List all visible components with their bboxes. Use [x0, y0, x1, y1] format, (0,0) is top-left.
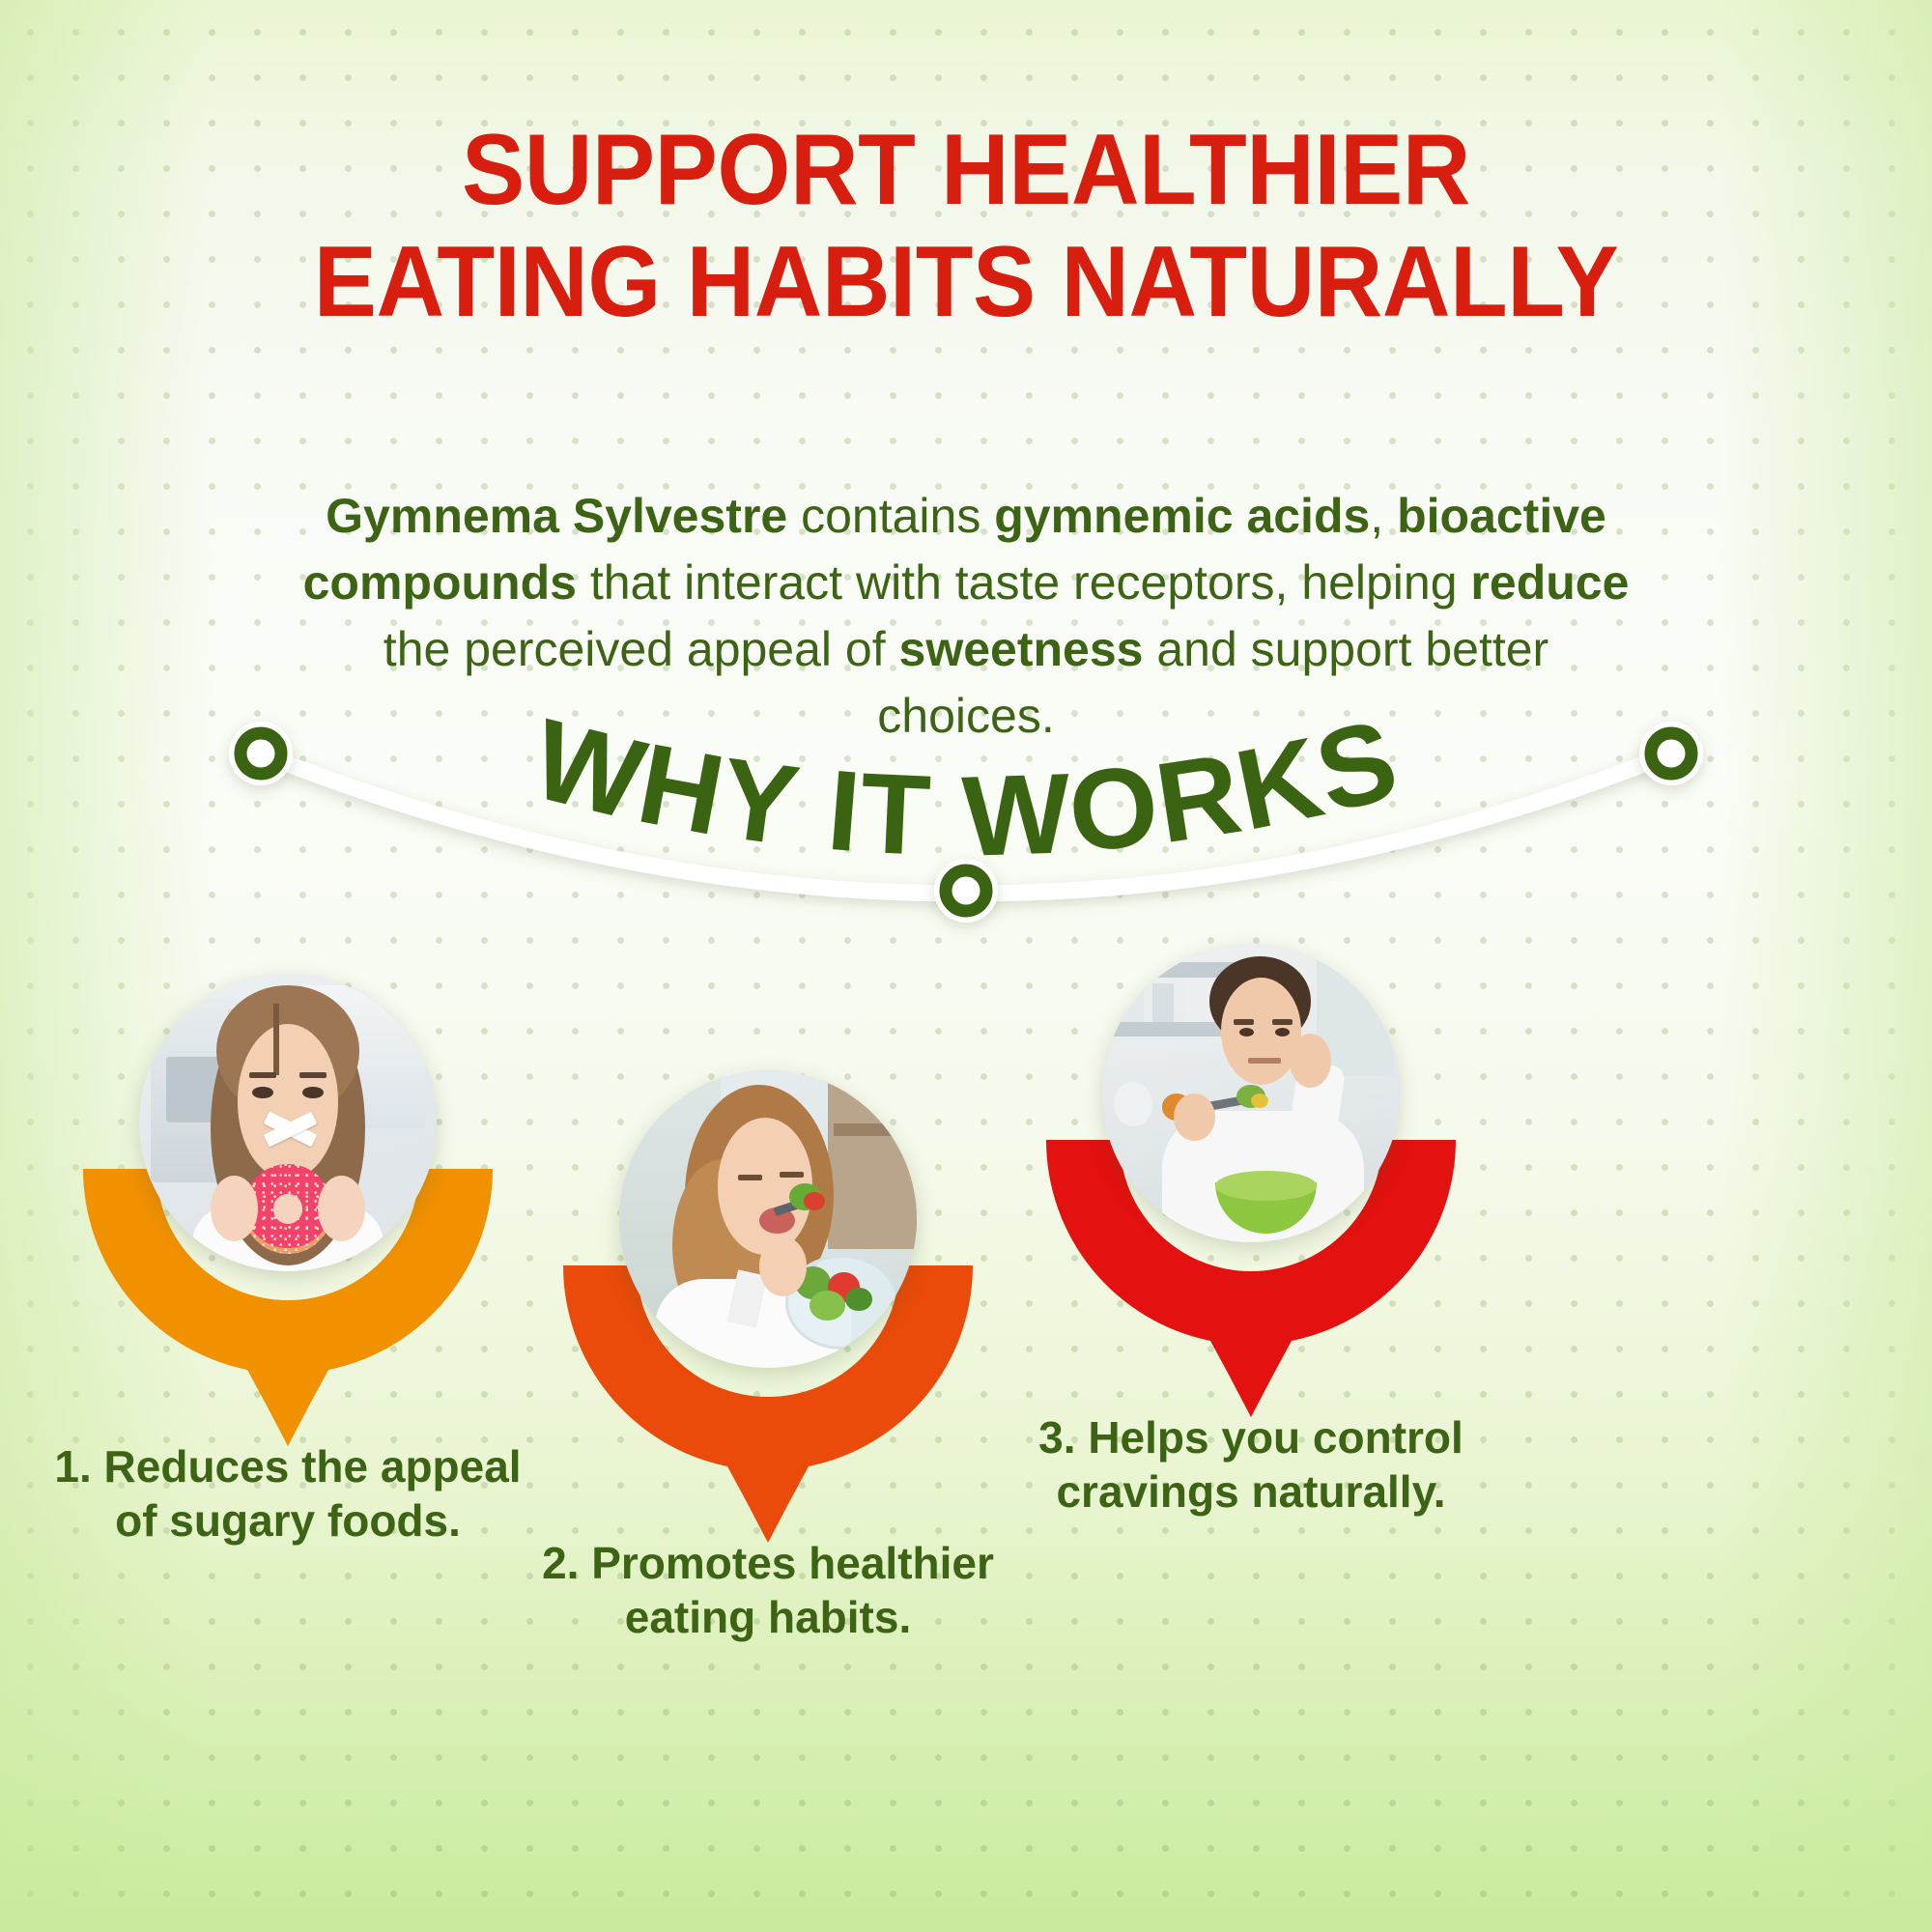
card-3-caption-line-2: cravings naturally. [1056, 1466, 1445, 1517]
card-1-caption: 1. Reduces the appeal of sugary foods. [27, 1439, 549, 1548]
headline-line-1: SUPPORT HEALTHIER [58, 114, 1874, 226]
card-3-caption-line-1: 3. Helps you control [1038, 1412, 1463, 1463]
card-2-caption: 2. Promotes healthier eating habits. [507, 1536, 1029, 1644]
page-title: SUPPORT HEALTHIER EATING HABITS NATURALL… [58, 114, 1874, 339]
card-2-caption-line-2: eating habits. [625, 1592, 911, 1642]
why-it-works-banner: WHY IT WORKS [222, 618, 1710, 1024]
card-3-caption: 3. Helps you control cravings naturally. [990, 1410, 1512, 1519]
card-1-caption-line-2: of sugary foods. [115, 1495, 461, 1546]
card-3-photo [1102, 945, 1400, 1242]
benefit-card-1: 1. Reduces the appeal of sugary foods. [75, 966, 500, 1449]
benefit-card-3: 3. Helps you control cravings naturally. [1038, 937, 1463, 1420]
banner-node-left [229, 722, 293, 785]
card-1-caption-line-1: 1. Reduces the appeal [54, 1441, 521, 1492]
banner-node-center [934, 859, 998, 923]
infographic-poster: SUPPORT HEALTHIER EATING HABITS NATURALL… [0, 0, 1932, 1932]
banner-node-right [1639, 722, 1703, 785]
card-1-photo [139, 974, 437, 1271]
card-2-photo [619, 1070, 917, 1368]
banner-label: WHY IT WORKS [521, 695, 1410, 881]
benefit-card-2: 2. Promotes healthier eating habits. [555, 1063, 980, 1546]
card-2-caption-line-1: 2. Promotes healthier [542, 1538, 994, 1588]
headline-line-2: EATING HABITS NATURALLY [58, 226, 1874, 338]
